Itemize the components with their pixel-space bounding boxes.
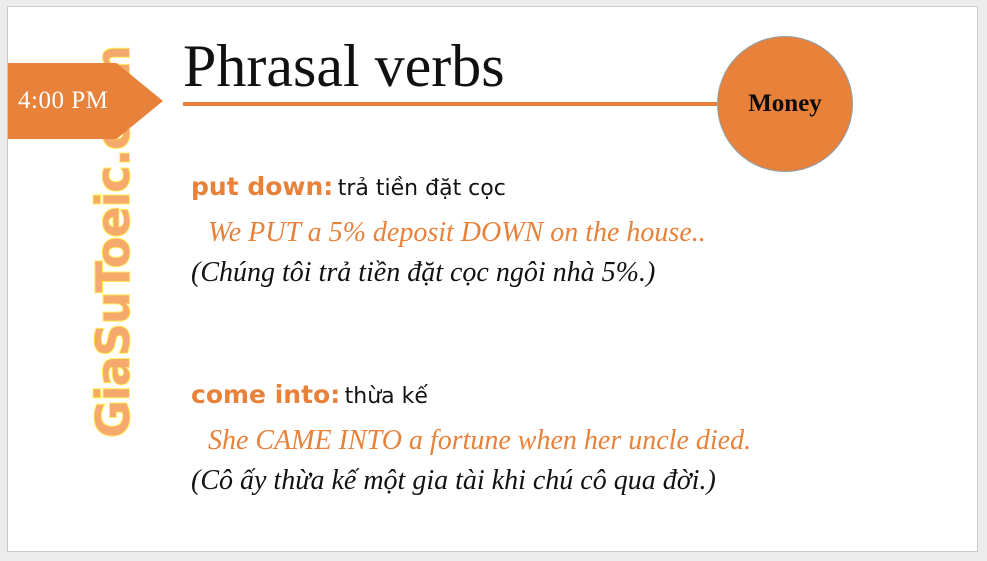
time-badge-label: 4:00 PM bbox=[18, 87, 108, 115]
entry-example: She CAME INTO a fortune when her uncle d… bbox=[191, 421, 891, 461]
topic-circle: Money bbox=[717, 36, 853, 172]
title-block: Phrasal verbs bbox=[183, 33, 723, 99]
phrasal-verb-entry: put down: trả tiền đặt cọc We PUT a 5% d… bbox=[191, 170, 891, 293]
entry-translation: (Cô ấy thừa kế một gia tài khi chú cô qu… bbox=[191, 461, 891, 501]
entry-term: put down: bbox=[191, 172, 333, 201]
phrasal-verb-entry: come into: thừa kế She CAME INTO a fortu… bbox=[191, 378, 891, 501]
page-title: Phrasal verbs bbox=[183, 33, 723, 99]
entry-term: come into: bbox=[191, 380, 340, 409]
time-badge-arrow: 4:00 PM bbox=[8, 63, 163, 139]
entry-translation: (Chúng tôi trả tiền đặt cọc ngôi nhà 5%.… bbox=[191, 253, 891, 293]
entry-head: come into: thừa kế bbox=[191, 378, 891, 416]
entry-head: put down: trả tiền đặt cọc bbox=[191, 170, 891, 208]
topic-circle-label: Money bbox=[748, 90, 822, 118]
entry-example: We PUT a 5% deposit DOWN on the house.. bbox=[191, 213, 891, 253]
slide-card: 4:00 PM GiaSuToeic.com Phrasal verbs Mon… bbox=[7, 6, 978, 552]
entry-meaning: trả tiền đặt cọc bbox=[338, 176, 506, 201]
title-underline-rule bbox=[183, 102, 728, 106]
entry-meaning: thừa kế bbox=[345, 384, 428, 409]
